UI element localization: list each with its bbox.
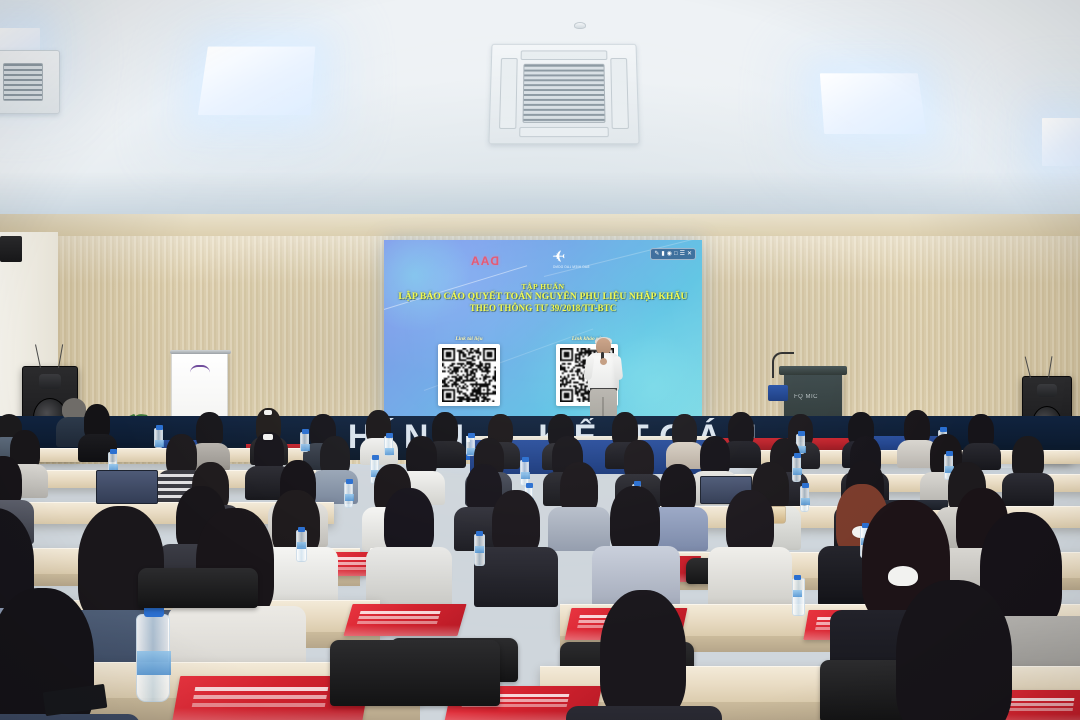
pen-icon[interactable]: ✎ xyxy=(654,250,659,258)
qr-code-documents: Link tài liệu xyxy=(438,336,500,406)
slide-surface: DAA ✈ BAO HIEM LAO DONG ✎ ▮ ◉ □ ☰ ✕ TẬP … xyxy=(384,240,702,422)
flipchart-marking xyxy=(190,365,210,373)
eraser-icon[interactable]: □ xyxy=(674,250,678,258)
person-body xyxy=(1002,473,1054,507)
water-bottle xyxy=(384,436,393,456)
slide-logo-organization: ✈ BAO HIEM LAO DONG xyxy=(544,250,598,272)
presenter-arm-right xyxy=(613,356,623,381)
water-bottle xyxy=(474,534,485,566)
water-bottle xyxy=(136,614,170,702)
water-bottle xyxy=(792,456,801,482)
ceiling-ac-unit xyxy=(0,50,60,114)
qr-caption: Link tài liệu xyxy=(438,336,500,342)
person-body xyxy=(474,547,558,607)
menu-icon[interactable]: ☰ xyxy=(680,250,685,258)
water-bottle xyxy=(296,530,307,562)
slide-logo-organization-label: BAO HIEM LAO DONG xyxy=(544,265,598,269)
wall-mounted-speaker-small xyxy=(0,236,22,262)
highlighter-icon[interactable]: ▮ xyxy=(661,250,664,258)
smoke-detector-icon xyxy=(574,22,586,29)
podium-top xyxy=(779,366,847,375)
ceiling xyxy=(0,0,1080,232)
presenter xyxy=(583,338,625,424)
laptop-screen xyxy=(96,470,158,504)
person-body xyxy=(566,706,722,720)
seminar-room-photo: DAA ✈ BAO HIEM LAO DONG ✎ ▮ ◉ □ ☰ ✕ TẬP … xyxy=(0,0,1080,720)
water-bottle xyxy=(792,578,805,616)
podium-brand-label: FQ MIC xyxy=(794,394,818,400)
presentation-toolbar[interactable]: ✎ ▮ ◉ □ ☰ ✕ xyxy=(650,248,696,260)
ceiling-ac-unit xyxy=(488,44,639,144)
slide-title: TẬP HUẤN LẬP BÁO CÁO QUYẾT TOÁN NGUYÊN P… xyxy=(384,282,702,314)
water-bottle xyxy=(154,428,163,448)
person-body xyxy=(548,507,610,551)
water-bottle xyxy=(800,486,809,512)
ceiling-light-panel xyxy=(198,47,315,116)
slide-title-line2: LẬP BÁO CÁO QUYẾT TOÁN NGUYÊN PHỤ LIỆU N… xyxy=(384,291,702,303)
slide-title-line1: TẬP HUẤN xyxy=(384,282,702,291)
projection-screen: DAA ✈ BAO HIEM LAO DONG ✎ ▮ ◉ □ ☰ ✕ TẬP … xyxy=(384,240,702,422)
pointer-icon[interactable]: ◉ xyxy=(667,250,672,258)
chair xyxy=(330,640,500,706)
podium-equipment-case xyxy=(768,385,788,401)
water-bottle xyxy=(300,432,309,452)
person-body xyxy=(708,547,792,607)
person-hair xyxy=(600,590,686,720)
slide-logo-daa: DAA xyxy=(470,254,499,268)
water-bottle xyxy=(344,482,353,508)
ceiling-light-panel xyxy=(1042,118,1080,166)
hair-clip xyxy=(888,566,918,586)
hair-clip xyxy=(264,410,272,415)
ceiling-light-panel xyxy=(820,73,927,134)
close-icon[interactable]: ✕ xyxy=(687,250,692,258)
red-folder xyxy=(343,604,466,636)
hair-clip xyxy=(263,434,273,440)
presenter-hand xyxy=(600,358,607,365)
person-hair xyxy=(896,580,1012,720)
slide-title-line3: THEO THÔNG TƯ 39/2018/TT-BTC xyxy=(384,303,702,314)
airplane-icon: ✈ xyxy=(552,250,565,266)
chair xyxy=(138,568,258,608)
person-body xyxy=(0,714,140,720)
qr-canvas xyxy=(442,348,496,402)
person-hair xyxy=(384,488,434,556)
flipchart-bar xyxy=(170,350,231,354)
person-body xyxy=(366,547,452,607)
